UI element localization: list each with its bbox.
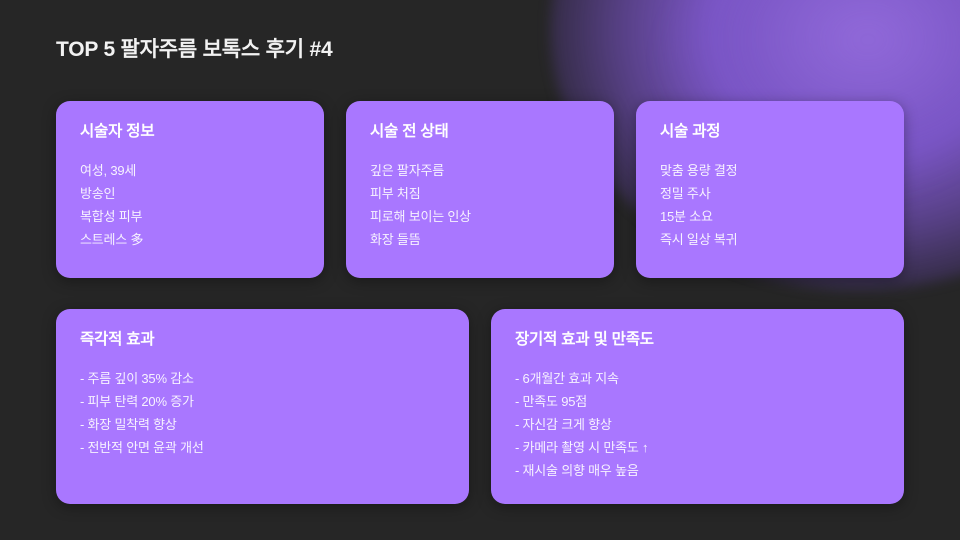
list-item: 15분 소요	[660, 205, 880, 228]
list-item: - 6개월간 효과 지속	[515, 367, 880, 390]
list-item: 즉시 일상 복귀	[660, 228, 880, 251]
list-item: - 자신감 크게 향상	[515, 413, 880, 436]
card-immediate-effect[interactable]: 즉각적 효과 - 주름 깊이 35% 감소 - 피부 탄력 20% 증가 - 화…	[56, 309, 469, 504]
card-subject-info[interactable]: 시술자 정보 여성, 39세 방송인 복합성 피부 스트레스 多	[56, 101, 324, 278]
list-item: 여성, 39세	[80, 159, 300, 182]
list-item: 피부 처짐	[370, 182, 590, 205]
list-item: 맞춤 용량 결정	[660, 159, 880, 182]
card-long-term-effect-satisfaction[interactable]: 장기적 효과 및 만족도 - 6개월간 효과 지속 - 만족도 95점 - 자신…	[491, 309, 904, 504]
card-title: 시술자 정보	[80, 123, 300, 142]
slide-root: TOP 5 팔자주름 보톡스 후기 #4 시술자 정보 여성, 39세 방송인 …	[0, 0, 960, 540]
card-grid: 시술자 정보 여성, 39세 방송인 복합성 피부 스트레스 多 시술 전 상태…	[56, 101, 904, 504]
card-row-bottom: 즉각적 효과 - 주름 깊이 35% 감소 - 피부 탄력 20% 증가 - 화…	[56, 309, 904, 504]
list-item: 깊은 팔자주름	[370, 159, 590, 182]
list-item: 복합성 피부	[80, 205, 300, 228]
card-title: 시술 전 상태	[370, 123, 590, 142]
card-list: 여성, 39세 방송인 복합성 피부 스트레스 多	[80, 159, 300, 251]
list-item: 방송인	[80, 182, 300, 205]
card-title: 시술 과정	[660, 123, 880, 142]
card-procedure-process[interactable]: 시술 과정 맞춤 용량 결정 정밀 주사 15분 소요 즉시 일상 복귀	[636, 101, 904, 278]
list-item: 피로해 보이는 인상	[370, 205, 590, 228]
list-item: - 만족도 95점	[515, 390, 880, 413]
list-item: 정밀 주사	[660, 182, 880, 205]
card-list: - 6개월간 효과 지속 - 만족도 95점 - 자신감 크게 향상 - 카메라…	[515, 367, 880, 482]
page-title: TOP 5 팔자주름 보톡스 후기 #4	[56, 33, 333, 63]
card-list: 깊은 팔자주름 피부 처짐 피로해 보이는 인상 화장 들뜸	[370, 159, 590, 251]
list-item: - 카메라 촬영 시 만족도 ↑	[515, 436, 880, 459]
card-before-condition[interactable]: 시술 전 상태 깊은 팔자주름 피부 처짐 피로해 보이는 인상 화장 들뜸	[346, 101, 614, 278]
card-row-top: 시술자 정보 여성, 39세 방송인 복합성 피부 스트레스 多 시술 전 상태…	[56, 101, 904, 278]
list-item: - 화장 밀착력 향상	[80, 413, 445, 436]
card-list: 맞춤 용량 결정 정밀 주사 15분 소요 즉시 일상 복귀	[660, 159, 880, 251]
list-item: - 주름 깊이 35% 감소	[80, 367, 445, 390]
list-item: - 재시술 의향 매우 높음	[515, 459, 880, 482]
card-list: - 주름 깊이 35% 감소 - 피부 탄력 20% 증가 - 화장 밀착력 향…	[80, 367, 445, 459]
card-title: 장기적 효과 및 만족도	[515, 331, 880, 350]
list-item: - 전반적 안면 윤곽 개선	[80, 436, 445, 459]
list-item: 스트레스 多	[80, 228, 300, 251]
card-title: 즉각적 효과	[80, 331, 445, 350]
list-item: - 피부 탄력 20% 증가	[80, 390, 445, 413]
list-item: 화장 들뜸	[370, 228, 590, 251]
